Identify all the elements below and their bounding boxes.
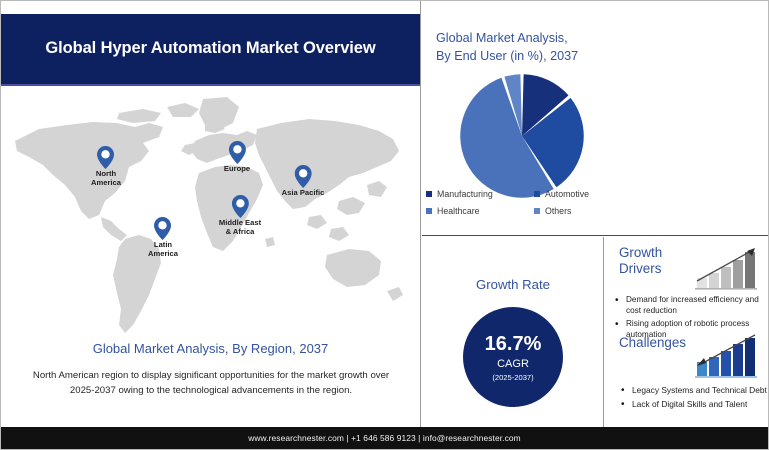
list-item: Legacy Systems and Technical Debt bbox=[619, 385, 769, 396]
legend-item-others[interactable]: Others bbox=[534, 206, 642, 216]
legend-swatch-icon bbox=[534, 191, 540, 197]
header-banner: Global Hyper Automation Market Overview bbox=[1, 14, 420, 86]
map-pin-label: Middle East & Africa bbox=[219, 219, 261, 237]
legend-label: Healthcare bbox=[437, 206, 480, 216]
map-pin-latin-america[interactable]: Latin America bbox=[148, 217, 178, 259]
world-map-container: North America Europe A bbox=[9, 89, 413, 339]
map-pin-label: Asia Pacific bbox=[282, 189, 325, 198]
legend-item-automotive[interactable]: Automotive bbox=[534, 189, 642, 199]
location-pin-icon bbox=[219, 195, 261, 218]
footer-bar: www.researchnester.com | +1 646 586 9123… bbox=[1, 427, 768, 449]
pie-chart-legend: Manufacturing Automotive Healthcare Othe… bbox=[426, 189, 656, 216]
legend-swatch-icon bbox=[534, 208, 540, 214]
legend-swatch-icon bbox=[426, 208, 432, 214]
map-pin-label: Latin America bbox=[148, 241, 178, 259]
cagr-value: 16.7% bbox=[485, 333, 542, 355]
map-pin-middle-east-africa[interactable]: Middle East & Africa bbox=[219, 195, 261, 237]
region-analysis-body: North American region to display signifi… bbox=[31, 369, 391, 399]
left-panel: Global Hyper Automation Market Overview bbox=[1, 1, 421, 450]
cagr-circle: 16.7% CAGR (2025-2037) bbox=[463, 307, 563, 407]
drivers-challenges-panel: Growth Drivers Demand for increased effi… bbox=[605, 237, 768, 429]
growth-rate-title: Growth Rate bbox=[422, 277, 604, 292]
ascending-bar-chart-down-arrow-icon bbox=[693, 333, 763, 381]
end-user-pie-panel: Global Market Analysis, By End User (in … bbox=[422, 1, 768, 236]
ascending-bar-chart-up-arrow-icon bbox=[693, 245, 763, 293]
challenges-title: Challenges bbox=[619, 335, 699, 351]
list-item: Lack of Digital Skills and Talent bbox=[619, 399, 769, 410]
page-title: Global Hyper Automation Market Overview bbox=[9, 38, 411, 59]
map-pin-asia-pacific[interactable]: Asia Pacific bbox=[282, 165, 325, 198]
cagr-period: (2025-2037) bbox=[492, 373, 533, 382]
legend-label: Manufacturing bbox=[437, 189, 493, 199]
location-pin-icon bbox=[282, 165, 325, 188]
growth-drivers-title: Growth Drivers bbox=[619, 245, 697, 277]
footer-contact-text: www.researchnester.com | +1 646 586 9123… bbox=[248, 433, 520, 443]
region-analysis-subtitle: Global Market Analysis, By Region, 2037 bbox=[1, 341, 420, 356]
legend-swatch-icon bbox=[426, 191, 432, 197]
map-pin-label: North America bbox=[91, 170, 121, 188]
pie-chart-title: Global Market Analysis, By End User (in … bbox=[436, 29, 736, 66]
map-pin-label: Europe bbox=[224, 165, 250, 174]
world-map-graphic bbox=[9, 89, 413, 339]
map-pin-north-america[interactable]: North America bbox=[91, 146, 121, 188]
cagr-label: CAGR bbox=[497, 358, 529, 370]
end-user-pie-chart bbox=[459, 73, 585, 199]
challenges-list: Legacy Systems and Technical Debt Lack o… bbox=[619, 385, 769, 414]
legend-label: Others bbox=[545, 206, 571, 216]
legend-item-healthcare[interactable]: Healthcare bbox=[426, 206, 534, 216]
list-item: Demand for increased efficiency and cost… bbox=[613, 295, 765, 317]
legend-label: Automotive bbox=[545, 189, 589, 199]
location-pin-icon bbox=[148, 217, 178, 240]
infographic-root: Global Hyper Automation Market Overview bbox=[0, 0, 769, 450]
legend-item-manufacturing[interactable]: Manufacturing bbox=[426, 189, 534, 199]
location-pin-icon bbox=[224, 141, 250, 164]
growth-rate-panel: Growth Rate 16.7% CAGR (2025-2037) bbox=[422, 237, 604, 429]
location-pin-icon bbox=[91, 146, 121, 169]
map-pin-europe[interactable]: Europe bbox=[224, 141, 250, 174]
